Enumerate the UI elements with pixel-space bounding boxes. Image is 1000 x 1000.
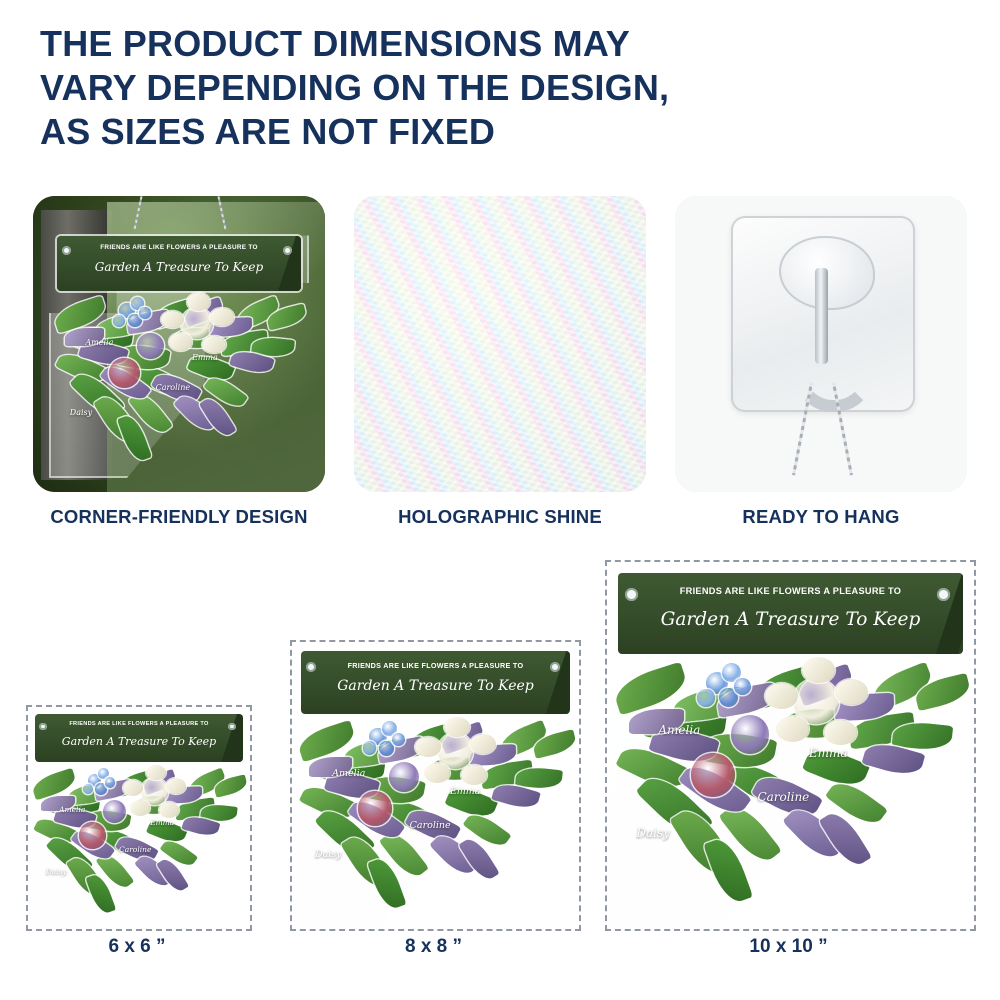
personalized-name: Amelia [658,723,700,737]
artwork-banner: FRIENDS ARE LIKE FLOWERS A PLEASURE TOGa… [57,236,301,291]
flower-shape [113,315,125,327]
flower-shape [358,791,392,825]
personalized-name: Caroline [156,383,191,392]
feature-caption-3: READY TO HANG [675,506,967,528]
flower-shape [392,733,405,746]
personalized-name: Amelia [85,338,113,347]
lily-petal [123,780,143,796]
personalized-name: Amelia [332,768,365,779]
feature-caption-1: CORNER-FRIENDLY DESIGN [33,506,325,528]
flower-shape [79,822,106,849]
size-box-8x8: FRIENDS ARE LIKE FLOWERS A PLEASURE TOGa… [290,640,581,931]
flower-shape [139,307,151,319]
lily-petal [159,802,179,818]
artwork-quote-line-2: Garden A Treasure To Keep [301,678,571,694]
flower-shape [389,762,419,792]
flower-shape [105,777,115,787]
flower-shape [691,753,735,797]
lily-petal [835,679,868,705]
product-infographic-page: THE PRODUCT DIMENSIONS MAY VARY DEPENDIN… [0,0,1000,1000]
page-title: THE PRODUCT DIMENSIONS MAY VARY DEPENDIN… [40,22,800,154]
size-label-10x10: 10 x 10 ” [605,936,972,958]
personalized-name: Daisy [70,408,92,417]
size-comparison-row: FRIENDS ARE LIKE FLOWERS A PLEASURE TOGa… [0,548,1000,968]
personalized-name: Caroline [757,790,809,804]
artwork-quote-line-2: Garden A Treasure To Keep [57,260,301,274]
size-box-10x10: FRIENDS ARE LIKE FLOWERS A PLEASURE TOGa… [605,560,976,931]
artwork-quote-line-2: Garden A Treasure To Keep [35,735,244,748]
personalized-name: Emma [150,818,174,827]
personalized-name: Caroline [410,820,451,831]
page-title-line-1: THE PRODUCT DIMENSIONS MAY [40,22,800,66]
lily-petal [424,763,450,783]
artwork-banner: FRIENDS ARE LIKE FLOWERS A PLEASURE TOGa… [35,714,244,763]
suncatcher-artwork-8x8: FRIENDS ARE LIKE FLOWERS A PLEASURE TOGa… [292,642,579,929]
window-photo-image: FRIENDS ARE LIKE FLOWERS A PLEASURE TOGa… [33,196,325,492]
flower-shape [137,333,164,359]
lily-petal [210,308,233,326]
artwork-banner: FRIENDS ARE LIKE FLOWERS A PLEASURE TOGa… [618,573,963,654]
flower-shape [731,715,769,753]
artwork-quote-line-2: Garden A Treasure To Keep [618,609,963,630]
lily-petal [130,800,150,816]
lily-petal [802,657,835,683]
mounting-hole-right [937,588,950,601]
lily-petal [470,734,496,754]
size-label-8x8: 8 x 8 ” [290,936,577,958]
feature-card-ready-to-hang: READY TO HANG [675,196,967,528]
personalized-name: Emma [192,353,218,362]
lily-petal [166,778,186,794]
flower-shape [697,689,715,707]
personalized-name: Daisy [315,849,342,860]
lily-petal [169,333,192,351]
lily-petal [202,336,225,354]
feature-caption-2: HOLOGRAPHIC SHINE [354,506,646,528]
mounting-hole-right [228,723,236,731]
mounting-hole-right [283,246,292,255]
size-label-6x6: 6 x 6 ” [26,936,248,958]
artwork-banner: FRIENDS ARE LIKE FLOWERS A PLEASURE TOGa… [301,651,571,714]
feature-cards-row: FRIENDS ARE LIKE FLOWERS A PLEASURE TOGa… [33,196,967,528]
size-box-6x6: FRIENDS ARE LIKE FLOWERS A PLEASURE TOGa… [26,705,252,931]
suncatcher-artwork-6x6: FRIENDS ARE LIKE FLOWERS A PLEASURE TOGa… [28,707,250,929]
personalized-name: Caroline [119,845,151,854]
suncatcher-artwork-10x10: FRIENDS ARE LIKE FLOWERS A PLEASURE TOGa… [607,562,974,929]
feature-card-holographic-shine: HOLOGRAPHIC SHINE [354,196,646,528]
suncatcher-artwork: FRIENDS ARE LIKE FLOWERS A PLEASURE TOGa… [49,228,309,478]
personalized-name: Daisy [636,826,670,840]
lily-petal [146,765,166,781]
lily-petal [415,737,441,757]
holographic-texture-image [354,196,646,492]
mounting-hole-left [62,246,71,255]
holographic-surface [354,196,646,492]
page-title-line-3: AS SIZES ARE NOT FIXED [40,110,800,154]
flower-shape [379,741,394,756]
lily-petal [187,293,210,311]
mounting-hole-left [39,723,47,731]
mounting-hole-left [625,588,638,601]
flower-shape [103,800,126,823]
feature-card-corner-friendly-design: FRIENDS ARE LIKE FLOWERS A PLEASURE TOGa… [33,196,325,528]
flower-shape [109,358,140,388]
personalized-name: Emma [450,786,481,797]
lily-petal [824,720,857,746]
artwork-quote-line-1: FRIENDS ARE LIKE FLOWERS A PLEASURE TO [35,721,244,727]
page-title-line-2: VARY DEPENDING ON THE DESIGN, [40,66,800,110]
lily-petal [776,716,809,742]
personalized-name: Amelia [59,805,85,814]
artwork-quote-line-1: FRIENDS ARE LIKE FLOWERS A PLEASURE TO [301,661,571,670]
artwork-quote-line-1: FRIENDS ARE LIKE FLOWERS A PLEASURE TO [618,586,963,596]
personalized-name: Daisy [46,867,67,876]
lily-petal [161,311,184,329]
personalized-name: Emma [809,746,848,760]
lily-petal [444,717,470,737]
suncatcher-in-window: FRIENDS ARE LIKE FLOWERS A PLEASURE TOGa… [49,228,309,478]
lily-petal [765,683,798,709]
artwork-quote-line-1: FRIENDS ARE LIKE FLOWERS A PLEASURE TO [57,244,301,251]
wall-hook-image [675,196,967,492]
